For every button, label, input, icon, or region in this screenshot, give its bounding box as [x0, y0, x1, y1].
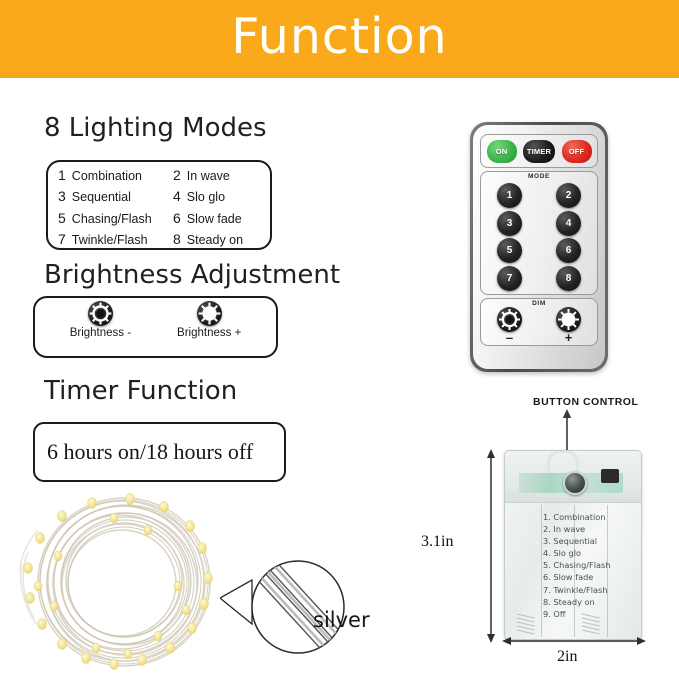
- remote-body: ON TIMER OFF MODE 1 2 3 4 5 6 7 8 DIM: [473, 125, 605, 369]
- mode-number: 5: [58, 210, 66, 226]
- list-item: 1 Combination: [46, 167, 171, 183]
- brightness-increase-item: Brightness +: [177, 301, 241, 358]
- product-function-infographic: Function 8 Lighting Modes 1 Combination …: [0, 0, 679, 677]
- list-item: 3 Sequential: [46, 188, 171, 204]
- timer-function-heading: Timer Function: [44, 376, 237, 406]
- list-item: 5 Chasing/Flash: [46, 210, 171, 226]
- remote-mode-button-3[interactable]: 3: [497, 211, 522, 236]
- mode-label: Combination: [72, 169, 142, 183]
- list-item: 4. Slo glo: [543, 547, 610, 559]
- brightness-decrease-item: Brightness -: [70, 301, 131, 358]
- remote-control-image: ON TIMER OFF MODE 1 2 3 4 5 6 7 8 DIM: [470, 122, 608, 372]
- remote-dim-decrease-sign: –: [506, 332, 513, 343]
- remote-mode-button-6[interactable]: 6: [556, 238, 581, 263]
- remote-mode-button-4[interactable]: 4: [556, 211, 581, 236]
- remote-mode-button-8[interactable]: 8: [556, 266, 581, 291]
- sun-dim-icon: [497, 307, 522, 332]
- remote-mode-buttons: 1 2 3 4 5 6 7 8: [480, 182, 598, 292]
- width-dimension-arrow-icon: [501, 634, 647, 648]
- mode-label: Twinkle/Flash: [72, 233, 148, 247]
- remote-off-button[interactable]: OFF: [562, 140, 592, 163]
- list-item: 6 Slow fade: [171, 210, 272, 226]
- remote-on-button[interactable]: ON: [487, 140, 517, 163]
- list-item: 6. Slow fade: [543, 571, 610, 583]
- mode-number: 8: [173, 231, 181, 247]
- brightness-decrease-label: Brightness -: [70, 327, 131, 339]
- height-dimension-arrow-icon: [484, 448, 498, 644]
- mode-label: Chasing/Flash: [72, 212, 152, 226]
- list-item: 3. Sequential: [543, 535, 610, 547]
- list-item: 5. Chasing/Flash: [543, 559, 610, 571]
- sun-dim-icon: [88, 301, 113, 326]
- mode-label: Slow fade: [187, 212, 242, 226]
- remote-mode-tag: MODE: [480, 173, 598, 180]
- remote-mode-button-2[interactable]: 2: [556, 183, 581, 208]
- wire-magnifier-callout: [220, 552, 372, 662]
- brightness-buttons-row: Brightness -: [33, 296, 278, 358]
- sun-bright-icon: [556, 307, 581, 332]
- remote-mode-button-5[interactable]: 5: [497, 238, 522, 263]
- mode-number: 1: [58, 167, 66, 183]
- lighting-modes-list: 1 Combination 2 In wave 3 Sequential 4 S…: [46, 160, 272, 250]
- led-wire-coil-image: [18, 486, 238, 676]
- chip-component: [601, 469, 619, 483]
- list-item: 8 Steady on: [171, 231, 272, 247]
- width-dimension-label: 2in: [557, 648, 577, 666]
- brightness-adjustment-heading: Brightness Adjustment: [44, 260, 340, 290]
- mode-number: 4: [173, 188, 181, 204]
- mode-number: 3: [58, 188, 66, 204]
- mode-number: 7: [58, 231, 66, 247]
- list-item: 2. In wave: [543, 523, 610, 535]
- control-button[interactable]: [563, 471, 587, 495]
- remote-dim-tag: DIM: [480, 300, 598, 307]
- list-item: 1. Combination: [543, 511, 610, 523]
- remote-top-button-row: ON TIMER OFF: [480, 134, 598, 168]
- remote-timer-button[interactable]: TIMER: [523, 140, 555, 163]
- brightness-increase-label: Brightness +: [177, 327, 241, 339]
- mode-label: Slo glo: [187, 190, 225, 204]
- remote-dim-increase-item[interactable]: +: [556, 307, 581, 347]
- timer-function-value: 6 hours on/18 hours off: [33, 422, 286, 482]
- lighting-modes-heading: 8 Lighting Modes: [44, 113, 267, 143]
- mode-number: 6: [173, 210, 181, 226]
- list-item: 7 Twinkle/Flash: [46, 231, 171, 247]
- hanging-loop: [547, 450, 579, 473]
- button-control-callout-label: BUTTON CONTROL: [533, 396, 638, 408]
- mode-label: In wave: [187, 169, 230, 183]
- list-item: 7. Twinkle/Flash: [543, 584, 610, 596]
- mode-label: Steady on: [187, 233, 243, 247]
- mode-label: Sequential: [72, 190, 131, 204]
- remote-mode-button-1[interactable]: 1: [497, 183, 522, 208]
- list-item: 9. Off: [543, 608, 610, 620]
- printed-mode-list: 1. Combination 2. In wave 3. Sequential …: [543, 511, 610, 620]
- battery-box-image: 1. Combination 2. In wave 3. Sequential …: [504, 450, 642, 640]
- remote-mode-button-7[interactable]: 7: [497, 266, 522, 291]
- list-item: 8. Steady on: [543, 596, 610, 608]
- remote-dim-buttons: – +: [480, 307, 598, 347]
- height-dimension-label: 3.1in: [421, 533, 453, 551]
- wire-color-label: silver: [313, 608, 370, 632]
- page-title: Function: [0, 0, 679, 73]
- list-item: 4 Slo glo: [171, 188, 272, 204]
- button-control-arrow-icon: [560, 408, 574, 453]
- remote-dim-increase-sign: +: [565, 332, 573, 343]
- list-item: 2 In wave: [171, 167, 272, 183]
- remote-dim-decrease-item[interactable]: –: [497, 307, 522, 347]
- mode-number: 2: [173, 167, 181, 183]
- sun-bright-icon: [197, 301, 222, 326]
- header-banner-underline: [0, 73, 679, 78]
